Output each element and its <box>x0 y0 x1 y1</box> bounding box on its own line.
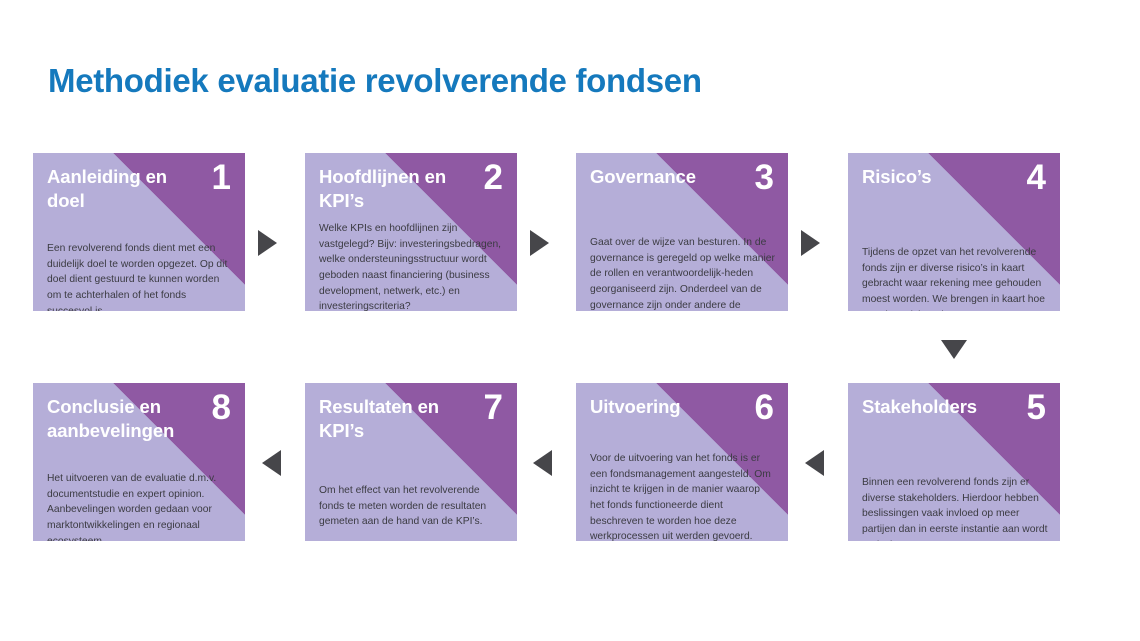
card-body: Voor de uitvoering van het fonds is er e… <box>590 451 776 541</box>
arrow-6-to-7-icon <box>533 450 552 476</box>
card-title: Risico’s <box>862 165 1012 189</box>
card-body: Om het effect van het revolverende fonds… <box>319 483 505 530</box>
card-body: Een revolverend fonds dient met een duid… <box>47 241 233 311</box>
arrow-1-to-2-icon <box>258 230 277 256</box>
card-body: Welke KPIs en hoofdlijnen zijn vastgeleg… <box>319 221 505 311</box>
card-number: 7 <box>484 390 503 425</box>
process-card-6: 6 Uitvoering Voor de uitvoering van het … <box>576 383 788 541</box>
card-title: Uitvoering <box>590 395 740 419</box>
card-body: Het uitvoeren van de evaluatie d.m.v. do… <box>47 471 233 541</box>
card-number: 2 <box>484 160 503 195</box>
process-card-4: 4 Risico’s Tijdens de opzet van het revo… <box>848 153 1060 311</box>
arrow-5-to-6-icon <box>805 450 824 476</box>
arrow-3-to-4-icon <box>801 230 820 256</box>
card-number: 8 <box>212 390 231 425</box>
card-title: Stakeholders <box>862 395 1012 419</box>
process-card-3: 3 Governance Gaat over de wijze van best… <box>576 153 788 311</box>
process-card-8: 8 Conclusie en aanbevelingen Het uitvoer… <box>33 383 245 541</box>
card-body: Gaat over de wijze van besturen. In de g… <box>590 235 776 311</box>
card-number: 6 <box>755 390 774 425</box>
card-title: Resultaten en KPI’s <box>319 395 469 442</box>
process-card-5: 5 Stakeholders Binnen een revolverend fo… <box>848 383 1060 541</box>
card-title: Governance <box>590 165 740 189</box>
card-number: 4 <box>1027 160 1046 195</box>
arrow-7-to-8-icon <box>262 450 281 476</box>
arrow-4-to-5-icon <box>941 340 967 359</box>
process-card-2: 2 Hoofdlijnen en KPI’s Welke KPIs en hoo… <box>305 153 517 311</box>
process-card-7: 7 Resultaten en KPI’s Om het effect van … <box>305 383 517 541</box>
card-body: Tijdens de opzet van het revolverende fo… <box>862 245 1048 311</box>
card-number: 1 <box>212 160 231 195</box>
card-number: 5 <box>1027 390 1046 425</box>
process-card-1: 1 Aanleiding en doel Een revolverend fon… <box>33 153 245 311</box>
card-number: 3 <box>755 160 774 195</box>
arrow-2-to-3-icon <box>530 230 549 256</box>
card-title: Aanleiding en doel <box>47 165 197 212</box>
card-title: Hoofdlijnen en KPI’s <box>319 165 469 212</box>
card-title: Conclusie en aanbevelingen <box>47 395 197 442</box>
page-title: Methodiek evaluatie revolverende fondsen <box>48 62 702 100</box>
card-body: Binnen een revolverend fonds zijn er div… <box>862 475 1048 541</box>
